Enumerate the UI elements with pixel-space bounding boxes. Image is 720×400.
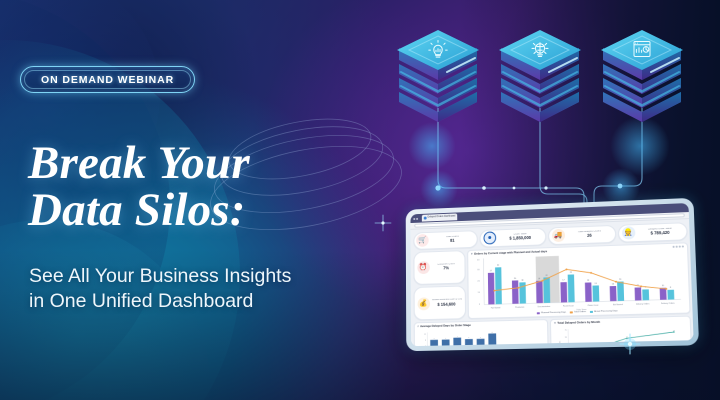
kpi-card-order-value[interactable]: ● Order Value $ 1,850,000 bbox=[480, 227, 546, 247]
svg-text:25: 25 bbox=[565, 345, 567, 346]
browser-tab[interactable]: Delayed Orders Dashboard bbox=[422, 214, 457, 222]
kpi-value: $ 154,600 bbox=[431, 301, 461, 307]
trace-glow-1 bbox=[420, 170, 458, 208]
svg-text:27: 27 bbox=[490, 270, 492, 272]
legend-label: Total Orders bbox=[574, 311, 586, 314]
svg-text:12: 12 bbox=[424, 334, 426, 336]
avg-delayed-days-chart: 04 812 bbox=[417, 327, 544, 346]
kpi-card-delayed-order-value[interactable]: 👷 Delayed Order Value $ 789,420 bbox=[618, 222, 687, 243]
data-silo-1 bbox=[395, 28, 481, 128]
svg-text:Parent Issue: Parent Issue bbox=[563, 304, 574, 307]
page-title: Break Your Data Silos: bbox=[28, 140, 388, 233]
legend-label: Planned Processing Days bbox=[541, 311, 566, 314]
panel-orders-by-stage: ▾ Orders by Current stage with Planned a… bbox=[467, 242, 690, 319]
svg-text:13: 13 bbox=[595, 283, 597, 285]
svg-text:75: 75 bbox=[565, 330, 567, 332]
svg-text:10: 10 bbox=[478, 292, 481, 294]
clock-churn-icon: ⏰ bbox=[417, 261, 430, 274]
headline-line-2: Data Silos: bbox=[28, 187, 388, 234]
svg-text:8: 8 bbox=[670, 287, 671, 289]
dashboard-tablet: Delayed Orders Dashboard 🛒 Total Orders … bbox=[406, 198, 699, 351]
collapse-caret-icon[interactable]: ▾ bbox=[554, 322, 556, 326]
panel-avg-delayed-days: ▾ Average Delayed Days by Order Stage 04 bbox=[413, 319, 548, 346]
subhead-line-1: See All Your Business Insights bbox=[29, 265, 291, 287]
sparkle-small-icon bbox=[372, 212, 394, 234]
collapse-caret-icon[interactable]: ▾ bbox=[471, 252, 472, 255]
svg-text:10: 10 bbox=[662, 285, 664, 287]
kpi-card-total-delayed-orders[interactable]: 🚚 Total Delayed Orders 26 bbox=[548, 224, 616, 244]
kpi-card-total-orders[interactable]: 🛒 Total Orders 81 bbox=[413, 230, 478, 250]
svg-text:8: 8 bbox=[425, 339, 426, 341]
svg-text:Not Started: Not Started bbox=[491, 306, 500, 309]
webinar-banner: ON DEMAND WEBINAR Break Your Data Silos:… bbox=[0, 0, 720, 400]
kpi-value: $ 1,850,000 bbox=[498, 235, 543, 242]
shopping-cart-icon: 🛒 bbox=[416, 234, 428, 247]
svg-text:Delivery Orders: Delivery Orders bbox=[661, 303, 675, 305]
data-silos-illustration: Delayed Orders Dashboard 🛒 Total Orders … bbox=[380, 0, 720, 400]
kpi-value: 26 bbox=[567, 232, 613, 239]
svg-text:30: 30 bbox=[477, 269, 480, 271]
svg-text:27: 27 bbox=[674, 341, 676, 343]
svg-text:9: 9 bbox=[456, 335, 457, 337]
svg-text:16: 16 bbox=[619, 279, 621, 281]
svg-text:62: 62 bbox=[673, 329, 675, 331]
svg-text:Delivery Orders: Delivery Orders bbox=[636, 303, 650, 305]
svg-text:Not Started: Not Started bbox=[613, 303, 623, 306]
svg-text:22: 22 bbox=[545, 275, 547, 277]
money-bag-icon: 💰 bbox=[417, 297, 430, 310]
svg-text:16: 16 bbox=[587, 280, 589, 282]
svg-text:24: 24 bbox=[570, 272, 572, 274]
legend-item: Planned Processing Days bbox=[537, 311, 566, 314]
svg-text:17: 17 bbox=[562, 280, 564, 282]
kpi-card-missed-business[interactable]: 💰 Missed Business Due to Order Delays $ … bbox=[413, 285, 465, 320]
svg-text:20: 20 bbox=[477, 281, 480, 283]
delayed-delivery-icon: 👷 bbox=[622, 226, 636, 239]
favicon-icon bbox=[424, 217, 426, 220]
legend-item: Total Orders bbox=[570, 311, 586, 314]
svg-text:Total Orders: Total Orders bbox=[558, 340, 561, 346]
browser-tab-label: Delayed Orders Dashboard bbox=[428, 216, 456, 219]
svg-text:8: 8 bbox=[445, 337, 446, 339]
svg-text:13: 13 bbox=[612, 283, 614, 285]
svg-text:19: 19 bbox=[538, 278, 540, 280]
legend-label: Actual Processing Days bbox=[594, 310, 618, 313]
data-silo-3 bbox=[599, 28, 685, 128]
subhead-line-2: in One Unified Dashboard bbox=[29, 289, 379, 314]
main-chart: 0 10 20 30 40 bbox=[471, 249, 685, 313]
svg-text:11: 11 bbox=[491, 331, 493, 333]
badge-label: ON DEMAND WEBINAR bbox=[41, 74, 174, 86]
delivery-truck-icon: 🚚 bbox=[552, 229, 565, 242]
kpi-side-column: ⏰ Customer Churn 7% 💰 Missed Business Du… bbox=[413, 250, 466, 321]
svg-text:8: 8 bbox=[433, 337, 434, 339]
kpi-value: 7% bbox=[431, 265, 461, 271]
svg-text:4: 4 bbox=[425, 345, 426, 346]
on-demand-webinar-badge: ON DEMAND WEBINAR bbox=[20, 66, 195, 93]
kpi-value: 81 bbox=[431, 237, 475, 243]
panel-menu-icon[interactable] bbox=[672, 246, 683, 248]
sparkle-icon bbox=[616, 330, 644, 358]
headline-line-1: Break Your bbox=[28, 137, 250, 189]
kpi-value: $ 789,420 bbox=[637, 230, 684, 237]
kpi-card-customer-churn[interactable]: ⏰ Customer Churn 7% bbox=[413, 250, 465, 285]
dashboard-middle-row: ⏰ Customer Churn 7% 💰 Missed Business Du… bbox=[413, 242, 690, 321]
dashboard-screen: Delayed Orders Dashboard 🛒 Total Orders … bbox=[410, 203, 693, 346]
dashboard-body: 🛒 Total Orders 81 ● Order Value $ 1,850,… bbox=[411, 219, 694, 346]
svg-text:32: 32 bbox=[497, 265, 499, 267]
svg-text:Production: Production bbox=[515, 306, 524, 309]
svg-text:Claims Issue: Claims Issue bbox=[587, 305, 598, 307]
svg-text:50: 50 bbox=[565, 336, 567, 338]
svg-text:18: 18 bbox=[521, 280, 523, 282]
data-silo-2 bbox=[497, 28, 583, 128]
svg-text:0: 0 bbox=[479, 304, 481, 306]
svg-text:40: 40 bbox=[477, 260, 480, 262]
svg-text:20: 20 bbox=[514, 278, 516, 280]
window-controls bbox=[413, 217, 420, 219]
legend-item: Actual Processing Days bbox=[590, 310, 618, 313]
svg-text:8: 8 bbox=[468, 337, 469, 339]
svg-text:8: 8 bbox=[480, 336, 481, 338]
dashboard-bottom-row: ▾ Average Delayed Days by Order Stage 04 bbox=[413, 316, 692, 347]
order-value-icon: ● bbox=[483, 231, 496, 244]
svg-text:Documentation: Documentation bbox=[538, 305, 551, 308]
page-subtitle: See All Your Business Insights in One Un… bbox=[29, 264, 379, 315]
collapse-caret-icon[interactable]: ▾ bbox=[417, 325, 418, 328]
